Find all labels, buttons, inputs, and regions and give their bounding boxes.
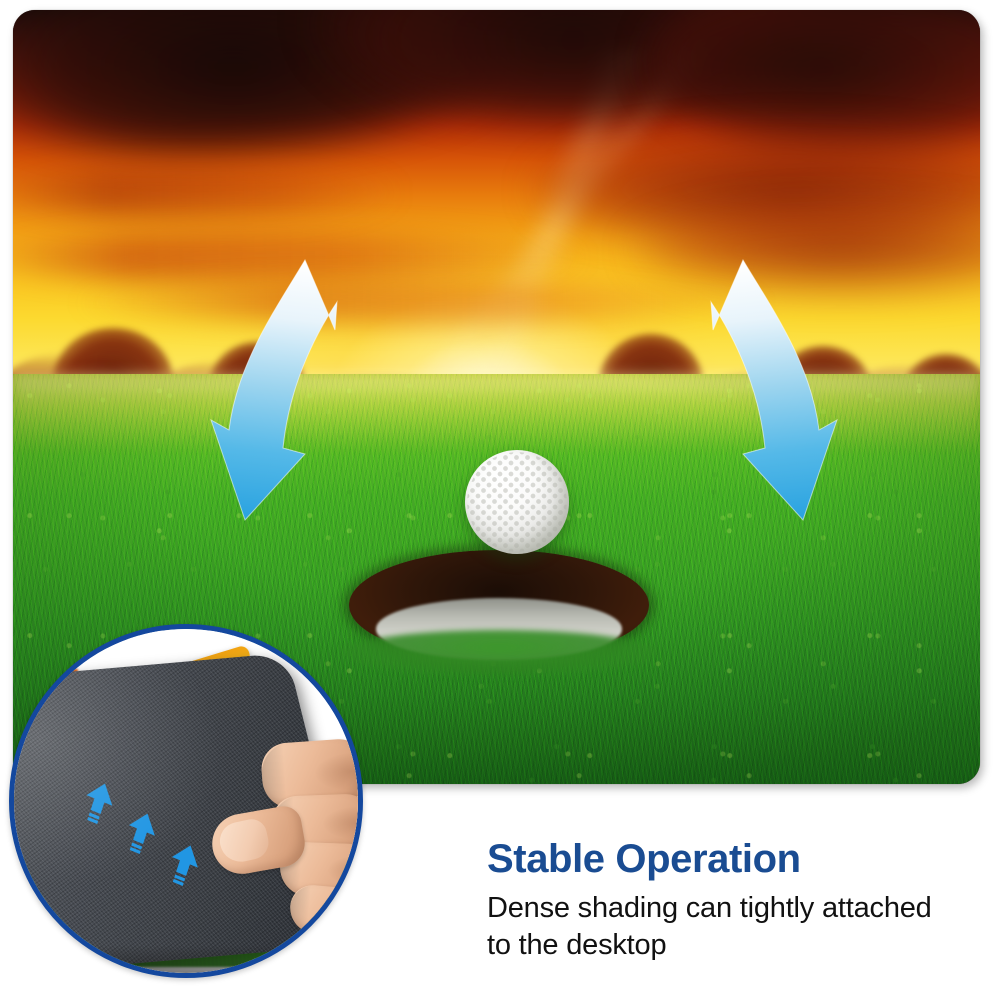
- golf-ball: [465, 450, 569, 554]
- grip-arrow-up-icon: [119, 807, 162, 860]
- grip-arrow-up-icon: [77, 777, 120, 830]
- inset-photo: [14, 629, 358, 973]
- hole-edge-grass: [339, 630, 659, 676]
- little-finger: [288, 883, 363, 938]
- feature-headline: Stable Operation: [487, 838, 957, 880]
- inset-bottom-shadow: [14, 945, 358, 973]
- grip-arrow-up-icon: [162, 839, 205, 892]
- non-slip-backing-inset: [9, 624, 363, 978]
- grass-sunlit-band: [13, 374, 980, 448]
- product-feature-panel: Stable Operation Dense shading can tight…: [0, 0, 1000, 1002]
- golf-hole: [349, 550, 649, 660]
- feature-callout: Stable Operation Dense shading can tight…: [487, 838, 957, 964]
- feature-description: Dense shading can tightly attached to th…: [487, 890, 957, 964]
- hand-lifting-pad: [210, 737, 363, 937]
